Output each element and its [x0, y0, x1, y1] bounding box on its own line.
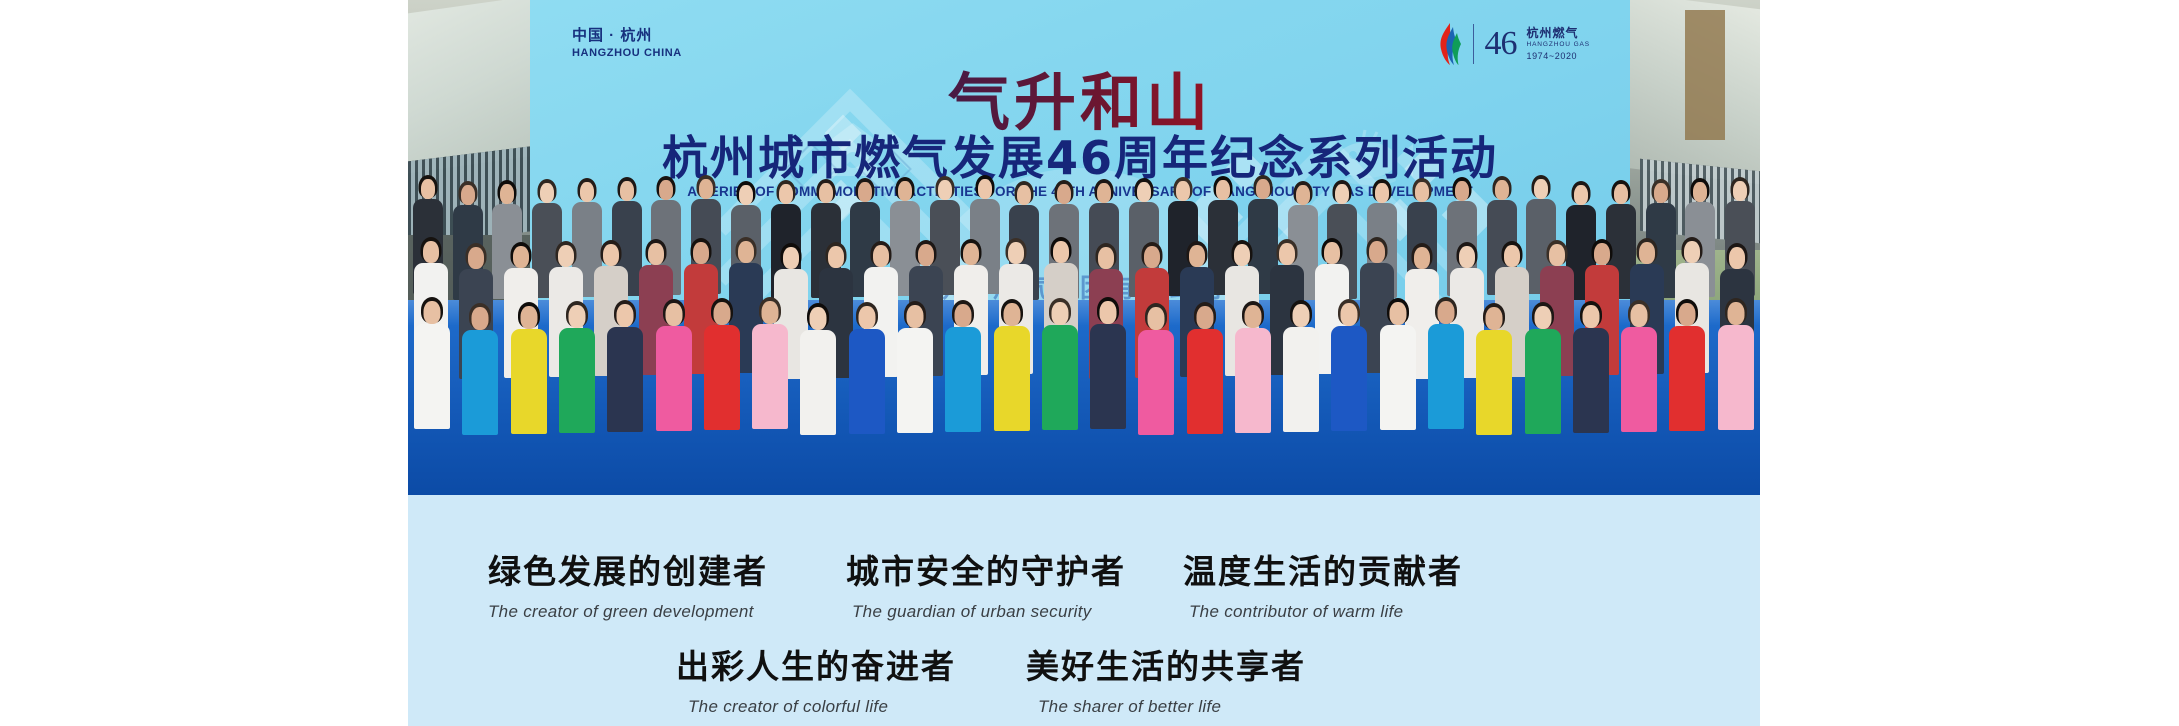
person-head	[963, 243, 979, 265]
person-head	[1017, 185, 1031, 205]
person-body	[994, 326, 1030, 431]
person-body	[1042, 325, 1078, 430]
person-head	[1495, 180, 1509, 200]
person-head	[1100, 301, 1117, 324]
person-silhouette	[1132, 300, 1180, 470]
crowd-row-kneel	[408, 300, 1760, 470]
person-body	[1476, 330, 1512, 435]
person-head	[873, 245, 889, 267]
slogan-cn: 美好生活的共享者	[1026, 640, 1306, 688]
person-head	[1003, 303, 1020, 326]
slogan-cn: 出彩人生的奋进者	[676, 640, 956, 688]
person-head	[762, 301, 779, 324]
person-silhouette	[794, 300, 842, 470]
person-silhouette	[456, 300, 504, 470]
person-head	[472, 307, 489, 330]
person-head	[1679, 303, 1696, 326]
slogan-en: The contributor of warm life	[1189, 602, 1463, 622]
person-head	[424, 301, 441, 324]
person-head	[1256, 179, 1270, 199]
person-head	[1486, 307, 1503, 330]
person-head	[1189, 245, 1205, 267]
person-head	[1693, 182, 1707, 202]
brand-name-cn: 杭州燃气	[1526, 26, 1590, 41]
person-head	[513, 246, 529, 268]
person-body	[1380, 325, 1416, 430]
person-body	[656, 326, 692, 431]
person-head	[738, 241, 754, 263]
person-body	[1669, 326, 1705, 431]
person-silhouette	[1567, 300, 1615, 470]
person-head	[898, 181, 912, 201]
person-body	[849, 329, 885, 434]
poster-content: 中国 · 杭州 HANGZHOU CHINA 46 杭州燃气 HANGZHOU …	[408, 0, 1760, 726]
person-body	[1090, 324, 1126, 429]
person-head	[1098, 247, 1114, 269]
person-head	[699, 179, 713, 199]
person-head	[1097, 183, 1111, 203]
person-silhouette	[601, 300, 649, 470]
person-head	[648, 243, 664, 265]
person-head	[819, 183, 833, 203]
person-head	[1727, 302, 1744, 325]
group-photo: 中国 · 杭州 HANGZHOU CHINA 46 杭州燃气 HANGZHOU …	[408, 0, 1760, 495]
slogan-en: The guardian of urban security	[852, 602, 1126, 622]
location-cn: 中国 · 杭州	[572, 26, 682, 46]
person-head	[1234, 244, 1250, 266]
person-body	[945, 327, 981, 432]
person-head	[423, 241, 439, 263]
slogan-cn: 温度生活的贡献者	[1183, 545, 1463, 593]
person-body	[1621, 327, 1657, 432]
person-head	[783, 247, 799, 269]
person-silhouette	[1470, 300, 1518, 470]
person-body	[414, 324, 450, 429]
person-head	[938, 180, 952, 200]
poster-page: 中国 · 杭州 HANGZHOU CHINA 46 杭州燃气 HANGZHOU …	[0, 0, 2179, 726]
person-head	[1296, 185, 1310, 205]
person-head	[1341, 303, 1358, 326]
person-head	[1196, 306, 1213, 329]
person-head	[828, 246, 844, 268]
person-body	[1187, 329, 1223, 434]
person-head	[461, 185, 475, 205]
person-head	[713, 302, 730, 325]
person-body	[559, 328, 595, 433]
person-head	[1654, 183, 1668, 203]
person-head	[1144, 246, 1160, 268]
person-head	[620, 181, 634, 201]
person-silhouette	[987, 300, 1035, 470]
slogan-en: The creator of colorful life	[688, 697, 956, 717]
slogan-cn: 绿色发展的创建者	[488, 545, 768, 593]
person-body	[1331, 326, 1367, 431]
person-head	[1051, 302, 1068, 325]
person-head	[1176, 181, 1190, 201]
person-head	[1244, 305, 1261, 328]
person-head	[1279, 243, 1295, 265]
person-body	[1573, 328, 1609, 433]
person-head	[1534, 179, 1548, 199]
person-head	[1414, 247, 1430, 269]
person-head	[1729, 247, 1745, 269]
person-silhouette	[1712, 300, 1760, 470]
person-head	[1438, 301, 1455, 324]
person-head	[1614, 184, 1628, 204]
person-silhouette	[843, 300, 891, 470]
person-head	[665, 303, 682, 326]
person-silhouette	[1036, 300, 1084, 470]
person-silhouette	[649, 300, 697, 470]
person-body	[752, 324, 788, 429]
person-head	[568, 305, 585, 328]
person-silhouette	[1277, 300, 1325, 470]
person-silhouette	[1518, 300, 1566, 470]
person-head	[1389, 302, 1406, 325]
slogan-en: The creator of green development	[488, 602, 768, 622]
person-silhouette	[1084, 300, 1132, 470]
person-body	[607, 327, 643, 432]
person-head	[540, 183, 554, 203]
person-head	[617, 304, 634, 327]
person-head	[1582, 305, 1599, 328]
person-head	[858, 182, 872, 202]
slogan-panel: 绿色发展的创建者 The creator of green developmen…	[408, 495, 1760, 726]
person-head	[1684, 241, 1700, 263]
person-head	[978, 179, 992, 199]
person-head	[1594, 243, 1610, 265]
person-silhouette	[1229, 300, 1277, 470]
person-head	[1335, 184, 1349, 204]
slogan-item: 温度生活的贡献者 The contributor of warm life	[1183, 545, 1463, 622]
person-head	[1375, 183, 1389, 203]
person-head	[659, 180, 673, 200]
person-head	[520, 306, 537, 329]
person-head	[779, 184, 793, 204]
person-silhouette	[1422, 300, 1470, 470]
person-head	[421, 179, 435, 199]
person-head	[1053, 241, 1069, 263]
person-body	[1235, 328, 1271, 433]
person-body	[897, 328, 933, 433]
person-head	[1549, 244, 1565, 266]
person-silhouette	[1663, 300, 1711, 470]
person-silhouette	[1615, 300, 1663, 470]
person-silhouette	[1374, 300, 1422, 470]
person-body	[1138, 330, 1174, 435]
person-head	[1216, 180, 1230, 200]
person-head	[858, 306, 875, 329]
person-head	[1631, 304, 1648, 327]
slogan-item: 城市安全的守护者 The guardian of urban security	[846, 545, 1126, 622]
person-body	[1283, 327, 1319, 432]
person-head	[1293, 304, 1310, 327]
person-head	[1369, 241, 1385, 263]
venue-door-right	[1685, 10, 1725, 140]
person-silhouette	[746, 300, 794, 470]
person-head	[1324, 242, 1340, 264]
person-head	[693, 242, 709, 264]
person-body	[1428, 324, 1464, 429]
person-head	[1057, 184, 1071, 204]
person-body	[800, 330, 836, 435]
person-head	[1008, 242, 1024, 264]
person-silhouette	[1325, 300, 1373, 470]
person-silhouette	[408, 300, 456, 470]
person-body	[704, 325, 740, 430]
slogan-cn: 城市安全的守护者	[846, 545, 1126, 593]
person-head	[1137, 182, 1151, 202]
person-head	[468, 247, 484, 269]
person-head	[1455, 181, 1469, 201]
person-head	[580, 182, 594, 202]
person-head	[1733, 181, 1747, 201]
brand-name-en: HANGZHOU GAS	[1526, 41, 1590, 49]
person-head	[1148, 307, 1165, 330]
person-head	[558, 245, 574, 267]
person-body	[462, 330, 498, 435]
person-silhouette	[891, 300, 939, 470]
person-head	[810, 307, 827, 330]
person-silhouette	[553, 300, 601, 470]
person-head	[1574, 185, 1588, 205]
person-silhouette	[698, 300, 746, 470]
person-body	[1718, 325, 1754, 430]
person-head	[500, 184, 514, 204]
person-head	[955, 304, 972, 327]
person-head	[1534, 306, 1551, 329]
slogan-item: 出彩人生的奋进者 The creator of colorful life	[676, 640, 956, 717]
person-head	[1459, 246, 1475, 268]
slogan-en: The sharer of better life	[1038, 697, 1306, 717]
person-head	[906, 305, 923, 328]
person-head	[1415, 182, 1429, 202]
person-silhouette	[1181, 300, 1229, 470]
person-silhouette	[505, 300, 553, 470]
slogan-item: 绿色发展的创建者 The creator of green developmen…	[488, 545, 768, 622]
person-body	[1525, 329, 1561, 434]
slogan-item: 美好生活的共享者 The sharer of better life	[1026, 640, 1306, 717]
person-head	[739, 185, 753, 205]
person-head	[603, 244, 619, 266]
person-silhouette	[939, 300, 987, 470]
person-head	[1639, 242, 1655, 264]
person-head	[1504, 245, 1520, 267]
person-body	[511, 329, 547, 434]
person-head	[918, 244, 934, 266]
